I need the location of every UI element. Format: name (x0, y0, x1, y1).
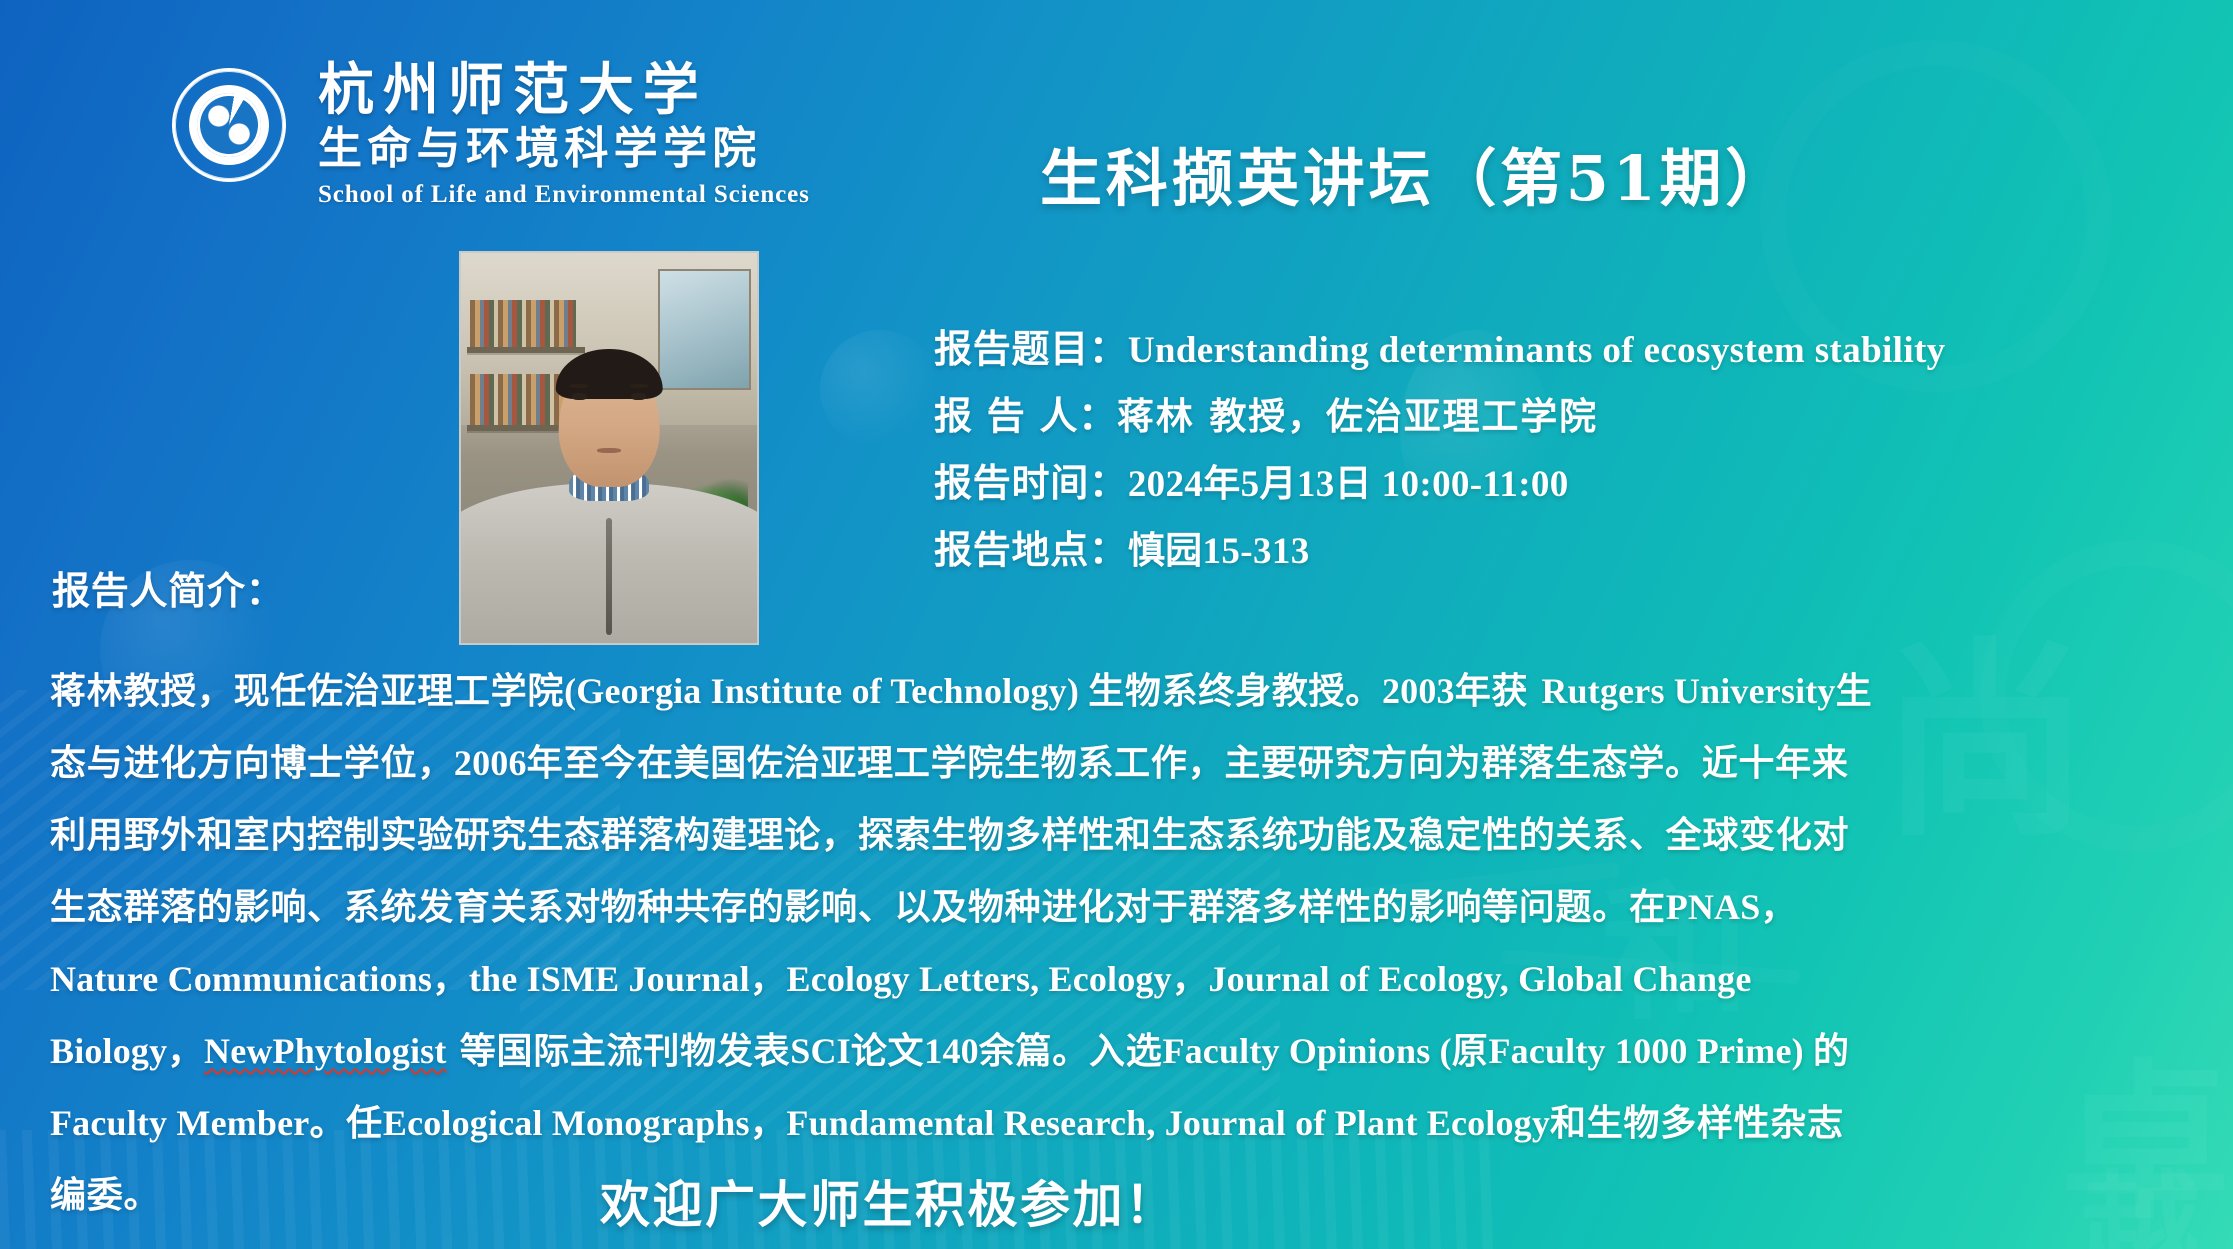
portrait-shelf-1 (467, 347, 585, 353)
school-name-cn: 生命与环境科学学院 (318, 127, 898, 171)
bio-text-run: Biology (50, 1031, 167, 1071)
emblem-fish-mark (197, 93, 261, 157)
bio-text-run: 年获 (1455, 670, 1542, 712)
bio-text-run: 余篇。入选 (979, 1030, 1163, 1072)
speaker-portrait (459, 251, 759, 645)
bio-misspelled-term: NewPhytologist (204, 1031, 447, 1071)
bio-text-run: ， (750, 1102, 787, 1144)
portrait-books-1 (470, 300, 577, 347)
bio-line: Nature Communications，the ISME Journal，E… (50, 943, 2185, 1015)
bio-text-run: 等国际主流刊物发表 (447, 1030, 791, 1072)
info-value-location: 慎园15-313 (1128, 520, 1310, 574)
bio-text-run: 年至今在美国佐治亚理工学院生物系工作，主要研究方向为群落生态学。近十年来 (527, 742, 1849, 784)
info-label-speaker: 报 告 人： (934, 385, 1117, 440)
portrait-books-2 (470, 374, 571, 425)
bio-text-run: 态与进化方向博士学位， (50, 742, 454, 784)
bio-text-run: Faculty Member (50, 1103, 309, 1143)
bio-line: 蒋林教授，现任佐治亚理工学院(Georgia Institute of Tech… (50, 655, 2185, 727)
bio-text-run: 的 (1813, 1030, 1850, 1072)
bio-text-run: ， (1172, 958, 1209, 1000)
bio-text-run: Nature Communications (50, 959, 432, 999)
bio-text-run: Journal of Ecology, Global Change (1209, 959, 1752, 999)
info-label-location: 报告地点： (934, 519, 1128, 574)
info-value-speaker: 蒋林 教授，佐治亚理工学院 (1117, 386, 1598, 440)
bio-text-run: (Georgia Institute of Technology) (564, 671, 1088, 711)
info-value-time: 2024年5月13日 10:00-11:00 (1128, 453, 1569, 507)
bio-text-run: 2003 (1382, 671, 1455, 711)
bio-line: 生态群落的影响、系统发育关系对物种共存的影响、以及物种进化对于群落多样性的影响等… (50, 871, 2185, 943)
bio-text-run: 2006 (454, 743, 527, 783)
bio-text-run: 编委。 (50, 1174, 160, 1216)
bio-text-run: Rutgers University (1541, 671, 1835, 711)
bio-text-run: ， (432, 958, 469, 1000)
info-label-time: 报告时间： (934, 452, 1128, 507)
school-name-en: School of Life and Environmental Science… (318, 181, 898, 209)
bio-line: 利用野外和室内控制实验研究生态群落构建理论，探索生物多样性和生态系统功能及稳定性… (50, 799, 2185, 871)
bio-text-run: 140 (924, 1031, 979, 1071)
bio-text-run: 利用野外和室内控制实验研究生态群落构建理论，探索生物多样性和生态系统功能及稳定性… (50, 814, 1849, 856)
bio-text-run: 论文 (851, 1030, 924, 1072)
watermark-blob-2 (820, 330, 940, 450)
bio-text-run: 原 (1452, 1030, 1489, 1072)
portrait-eye-left (572, 393, 587, 400)
bio-text-run: 生态群落的影响、系统发育关系对物种共存的影响、以及物种进化对于群落多样性的影响等… (50, 886, 1666, 928)
bio-text-run: 生物系终身教授。 (1088, 670, 1382, 712)
bio-text-run: SCI (790, 1031, 851, 1071)
bio-line: Biology，NewPhytologist 等国际主流刊物发表SCI论文140… (50, 1015, 2185, 1087)
bio-text-run: 生 (1836, 670, 1873, 712)
university-name-cn: 杭州师范大学 (318, 62, 898, 118)
footer-call-to-action: 欢迎广大师生积极参加！ (600, 1165, 1178, 1237)
university-wordmark: 杭州师范大学 生命与环境科学学院 School of Life and Envi… (318, 62, 898, 209)
bio-text-run: Faculty 1000 Prime) (1488, 1031, 1813, 1071)
bio-paragraph: 蒋林教授，现任佐治亚理工学院(Georgia Institute of Tech… (50, 655, 2185, 1231)
info-row-speaker: 报 告 人： 蒋林 教授，佐治亚理工学院 (934, 385, 2224, 440)
bio-text-run: the ISME Journal (469, 959, 750, 999)
info-row-topic: 报告题目： Understanding determinants of ecos… (934, 318, 2224, 373)
bio-text-run: 和生物多样性杂志 (1550, 1102, 1844, 1144)
bio-text-run: Fundamental Research, Journal of Plant E… (786, 1103, 1550, 1143)
info-value-topic: Understanding determinants of ecosystem … (1128, 329, 1946, 372)
bio-line: 态与进化方向博士学位，2006年至今在美国佐治亚理工学院生物系工作，主要研究方向… (50, 727, 2185, 799)
portrait-mouth (597, 448, 621, 453)
bio-text-run: 。任 (309, 1102, 382, 1144)
info-row-time: 报告时间： 2024年5月13日 10:00-11:00 (934, 452, 2224, 507)
bio-text-run: Faculty Opinions ( (1162, 1031, 1451, 1071)
portrait-window (658, 269, 751, 390)
bio-text-run: PNAS (1666, 887, 1761, 927)
page-title: 生科撷英讲坛（第51期） (1040, 128, 1791, 218)
portrait-zipper (606, 518, 612, 635)
bio-text-run: Ecological Monographs (383, 1103, 750, 1143)
bio-line: Faculty Member。任Ecological Monographs，Fu… (50, 1087, 2185, 1159)
bio-text-run: 蒋林教授，现任佐治亚理工学院 (50, 670, 564, 712)
school-emblem (172, 68, 286, 182)
seminar-poster: 尚 卓 越 和 杭州师范大学 生命与环境科学学院 School of Life … (0, 0, 2233, 1249)
bio-text-run: Ecology Letters, Ecology (787, 959, 1172, 999)
bio-text-run: ， (750, 958, 787, 1000)
info-row-location: 报告地点： 慎园15-313 (934, 519, 2224, 574)
bio-label: 报告人简介： (52, 560, 285, 615)
seminar-info-list: 报告题目： Understanding determinants of ecos… (934, 318, 2224, 586)
info-label-topic: 报告题目： (934, 318, 1128, 373)
bio-text-run: ， (167, 1030, 204, 1072)
portrait-eye-right (631, 393, 646, 400)
bio-text-run: ， (1760, 886, 1797, 928)
